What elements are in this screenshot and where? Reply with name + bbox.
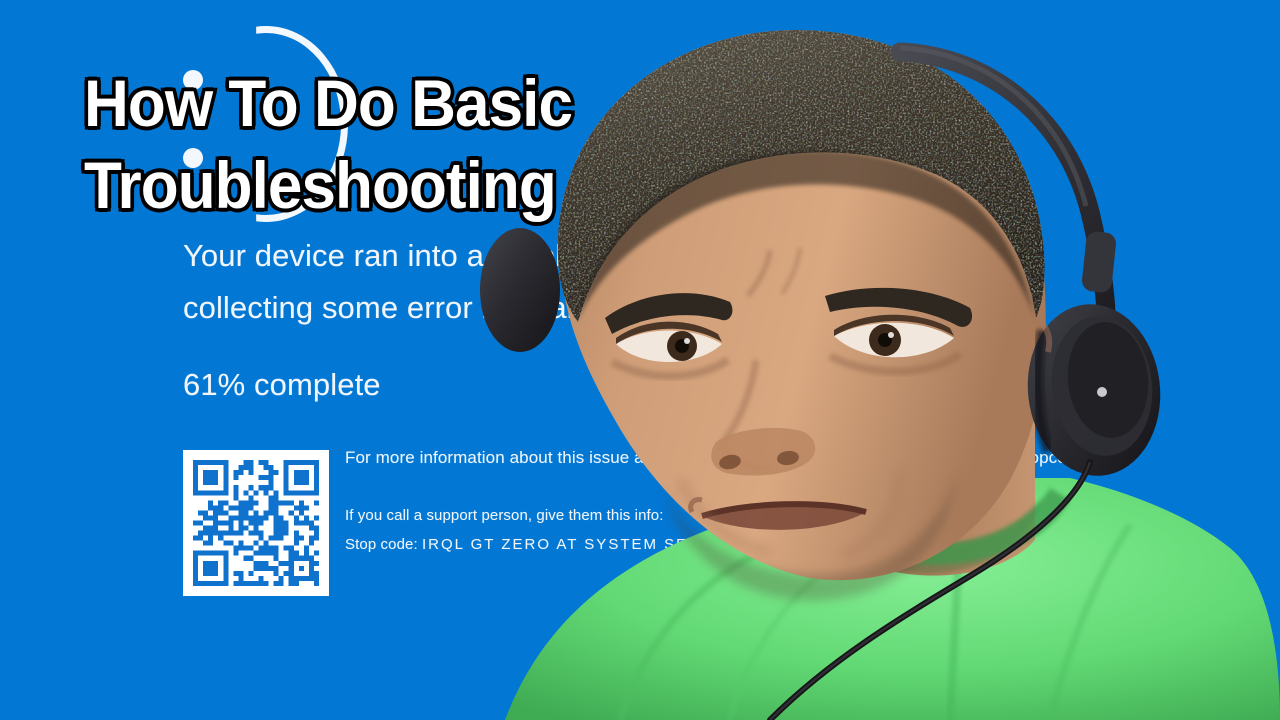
sad-face-mouth: [184, 26, 348, 222]
bsod-background: Your device ran into a problem and needs…: [0, 0, 1280, 720]
sad-face-eye-lower: [183, 148, 203, 168]
bsod-stop-code-label: Stop code:: [345, 536, 418, 553]
thumbnail-canvas: Your device ran into a problem and needs…: [0, 0, 1280, 720]
qr-code: [183, 450, 329, 596]
bsod-support-prompt: If you call a support person, give them …: [345, 507, 664, 524]
sad-face-eye-upper: [183, 70, 203, 90]
bsod-progress-text: 61% complete: [183, 367, 381, 403]
sad-face-icon: [150, 18, 350, 218]
bsod-stop-code: Stop code: IRQL GT ZERO AT SYSTEM SERVIC…: [345, 536, 744, 553]
bsod-main-line-2: collecting some error info, and then we'…: [183, 290, 950, 326]
qr-code-canvas: [183, 450, 329, 596]
bsod-main-line-1: Your device ran into a problem and needs…: [183, 238, 892, 274]
bsod-stop-code-value: IRQL GT ZERO AT SYSTEM SERVICE: [422, 536, 744, 553]
bsod-more-info-line: For more information about this issue an…: [345, 448, 1086, 468]
